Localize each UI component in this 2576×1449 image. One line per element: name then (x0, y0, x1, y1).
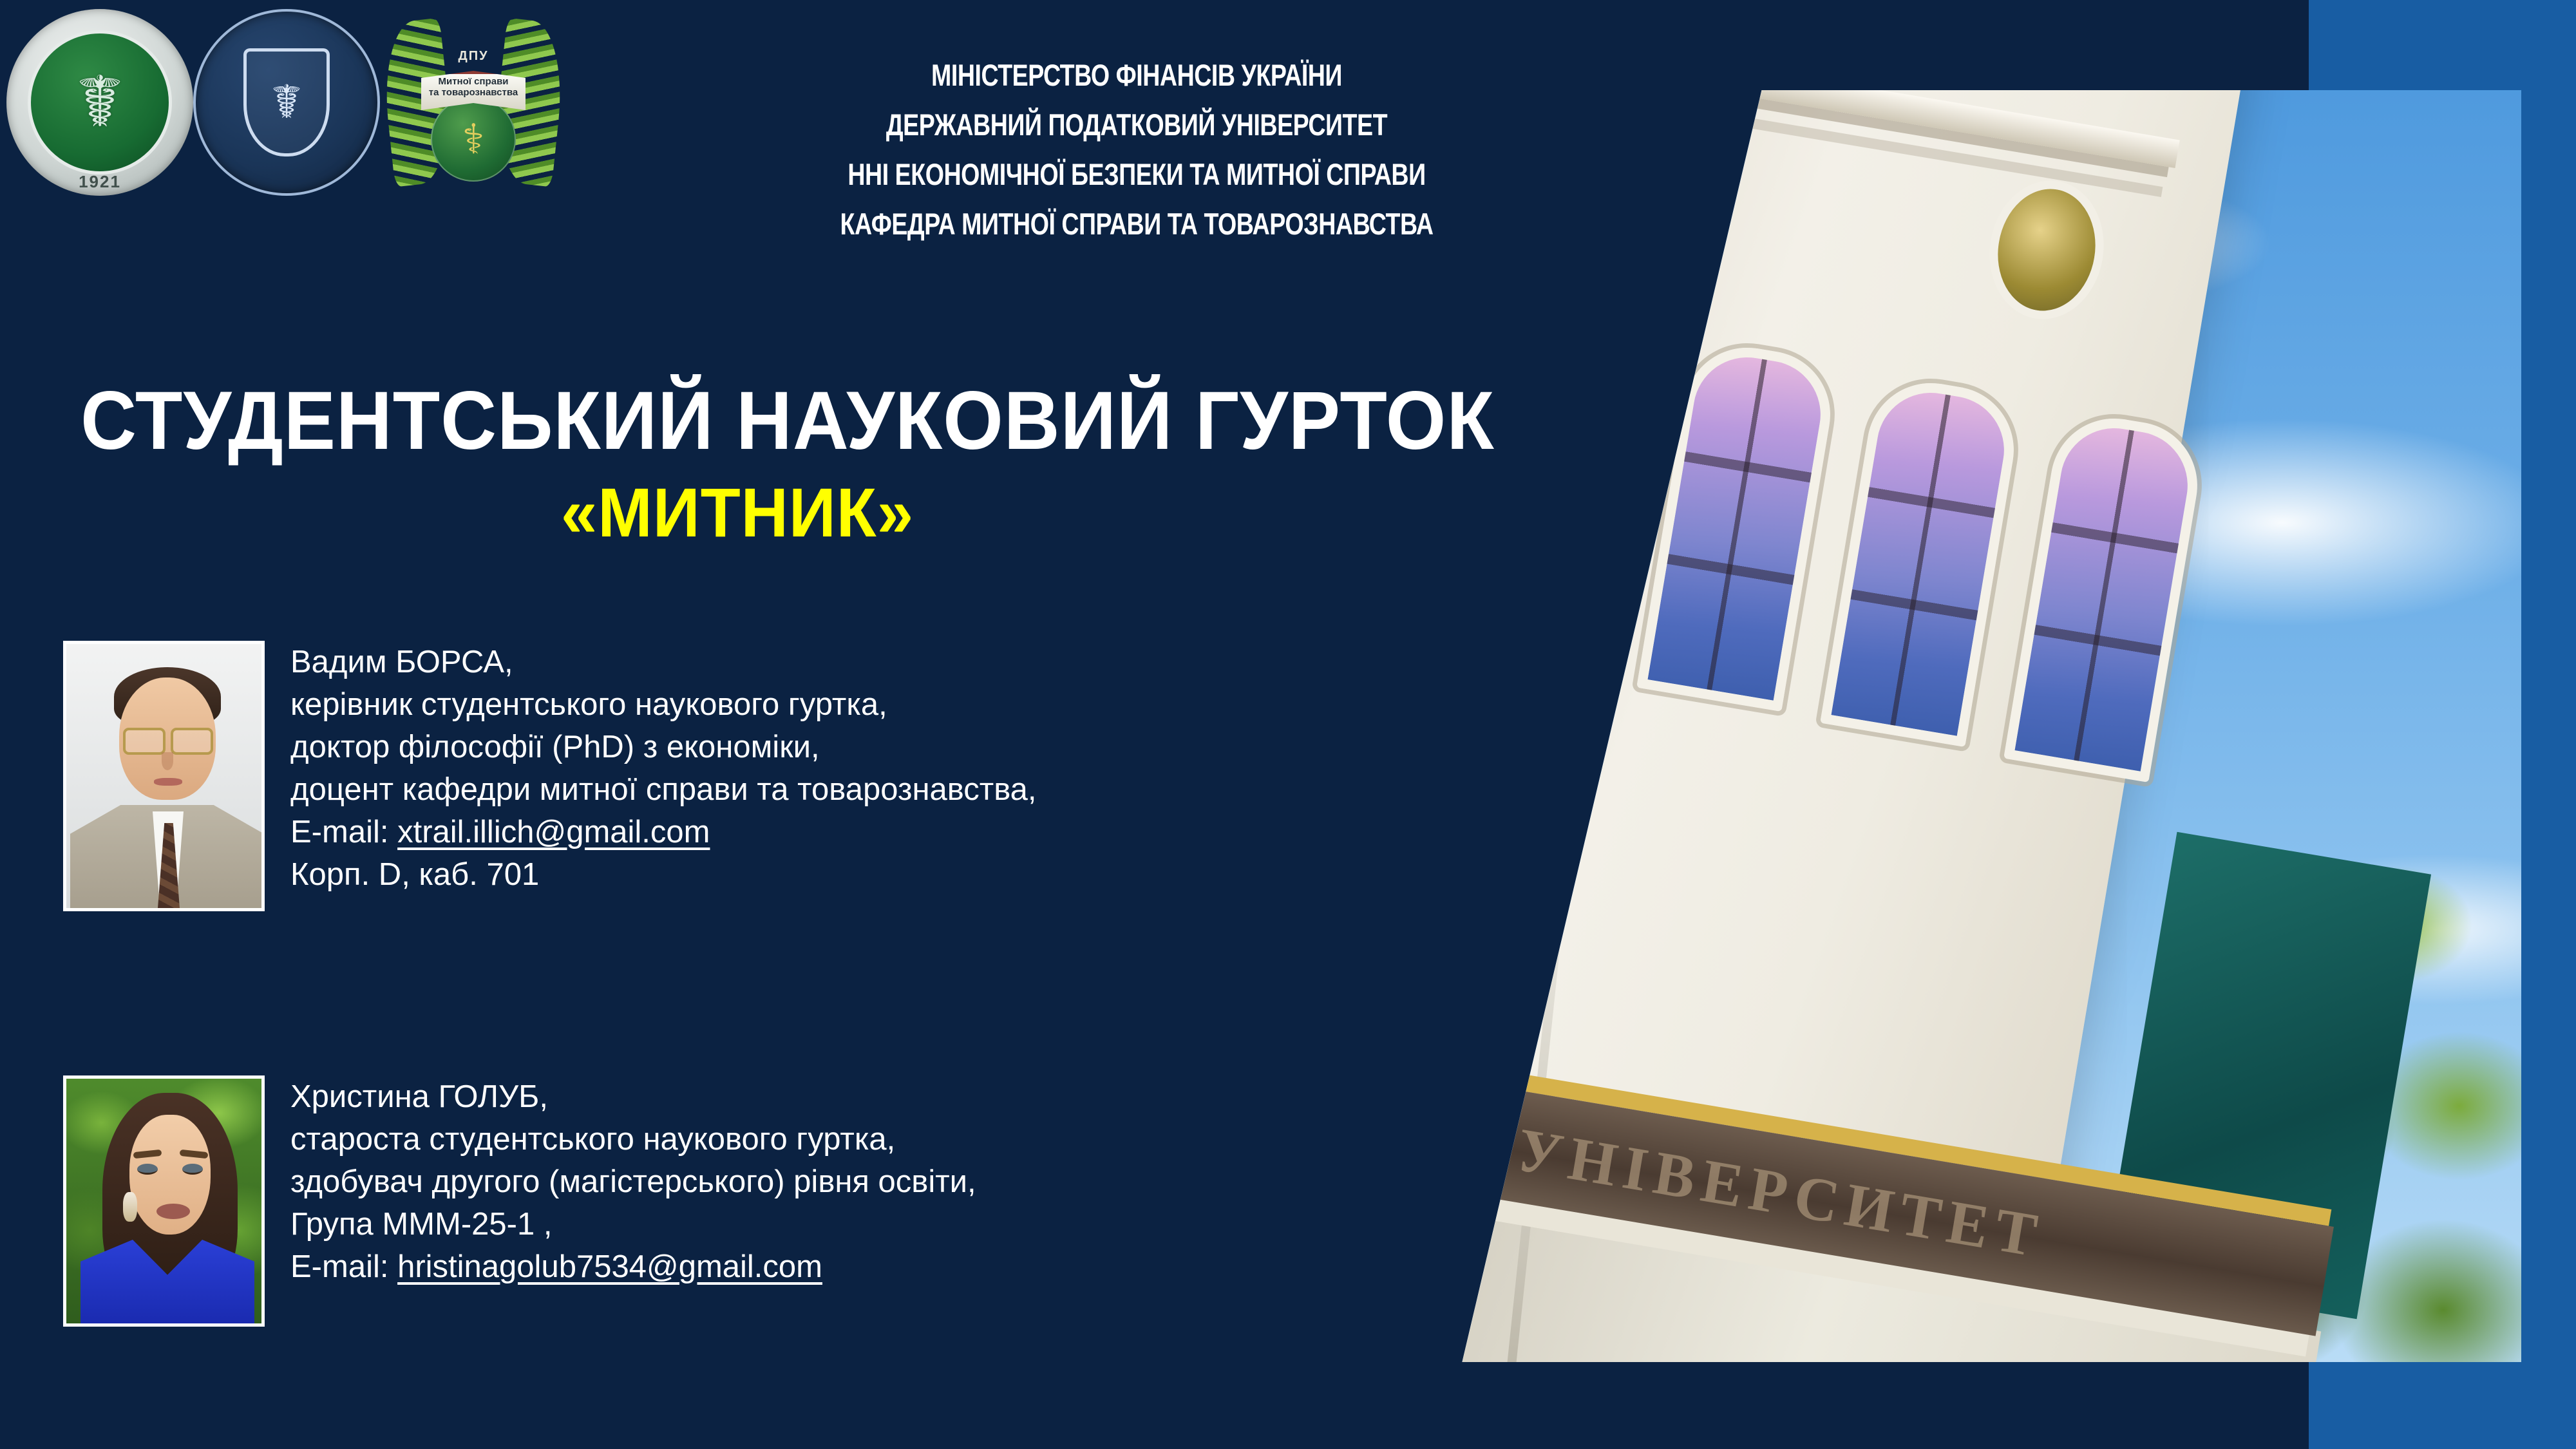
emblem-book-text: Митної справи та товарознавства (419, 76, 528, 99)
state-tax-university-seal-icon: ☤ 1921 (6, 9, 193, 196)
email-label: E-mail: (290, 1249, 388, 1284)
institution-header: МІНІСТЕРСТВО ФІНАНСІВ УКРАЇНИ ДЕРЖАВНИЙ … (721, 50, 1552, 249)
page-title: СТУДЕНТСЬКИЙ НАУКОВИЙ ГУРТОК «МИТНИК» (39, 380, 1436, 549)
avatar (63, 1075, 265, 1327)
email-label: E-mail: (290, 815, 388, 849)
person-role: староста студентського наукового гуртка, (290, 1118, 976, 1160)
header-line-department: КАФЕДРА МИТНОЇ СПРАВИ ТА ТОВАРОЗНАВСТВА (804, 199, 1469, 249)
seal-ring-text (196, 12, 377, 193)
seal-year: 1921 (6, 172, 193, 192)
avatar (63, 641, 265, 911)
emblem-abbr: ДПУ (458, 49, 488, 64)
person-degree: доктор філософії (PhD) з економіки, (290, 726, 1037, 768)
emblem-book-line2: та товарознавства (419, 87, 528, 98)
globe-icon: ⚕ (431, 97, 516, 182)
person-role: керівник студентського наукового гуртка, (290, 683, 1037, 726)
person-degree: здобувач другого (магістерського) рівня … (290, 1160, 976, 1203)
email-link[interactable]: hristinagolub7534@gmail.com (397, 1249, 822, 1284)
university-building-photo: УНІВЕРСИТЕТ (1436, 90, 2521, 1362)
email-link[interactable]: xtrail.illich@gmail.com (397, 815, 710, 849)
header-line-institute: ННІ ЕКОНОМІЧНОЇ БЕЗПЕКИ ТА МИТНОЇ СПРАВИ (804, 149, 1469, 199)
person-card-supervisor: Вадим БОРСА, керівник студентського наук… (63, 641, 1037, 911)
presentation-slide: УНІВЕРСИТЕТ ☤ 1921 ☤ ДПУ ⚕ (0, 0, 2576, 1449)
customs-department-wreath-emblem-icon: ДПУ ⚕ Митної справи та товарознавства (380, 9, 567, 196)
title-subtitle: «МИТНИК» (80, 477, 1394, 549)
person-email-row: E-mail: xtrail.illich@gmail.com (290, 811, 1037, 853)
emblem-book-line1: Митної справи (419, 76, 528, 87)
eyeglasses-icon (123, 728, 213, 750)
person-position: доцент кафедри митної справи та товарозн… (290, 768, 1037, 811)
logo-row: ☤ 1921 ☤ ДПУ ⚕ Митної справи та товарозн… (6, 9, 567, 196)
person-info: Христина ГОЛУБ, староста студентського н… (290, 1075, 976, 1288)
institute-economic-security-customs-seal-icon: ☤ (193, 9, 380, 196)
person-office: Корп. D, каб. 701 (290, 853, 1037, 896)
earring-icon (123, 1192, 137, 1222)
person-info: Вадим БОРСА, керівник студентського наук… (290, 641, 1037, 896)
person-card-student-head: Христина ГОЛУБ, староста студентського н… (63, 1075, 976, 1327)
caduceus-icon: ☤ (76, 67, 124, 138)
title-main: СТУДЕНТСЬКИЙ НАУКОВИЙ ГУРТОК (80, 380, 1394, 462)
person-name: Вадим БОРСА, (290, 641, 1037, 683)
header-line-university: ДЕРЖАВНИЙ ПОДАТКОВИЙ УНІВЕРСИТЕТ (804, 100, 1469, 149)
header-line-ministry: МІНІСТЕРСТВО ФІНАНСІВ УКРАЇНИ (804, 50, 1469, 100)
person-name: Христина ГОЛУБ, (290, 1075, 976, 1118)
person-email-row: E-mail: hristinagolub7534@gmail.com (290, 1245, 976, 1288)
person-group: Група ММM-25-1 , (290, 1203, 976, 1245)
